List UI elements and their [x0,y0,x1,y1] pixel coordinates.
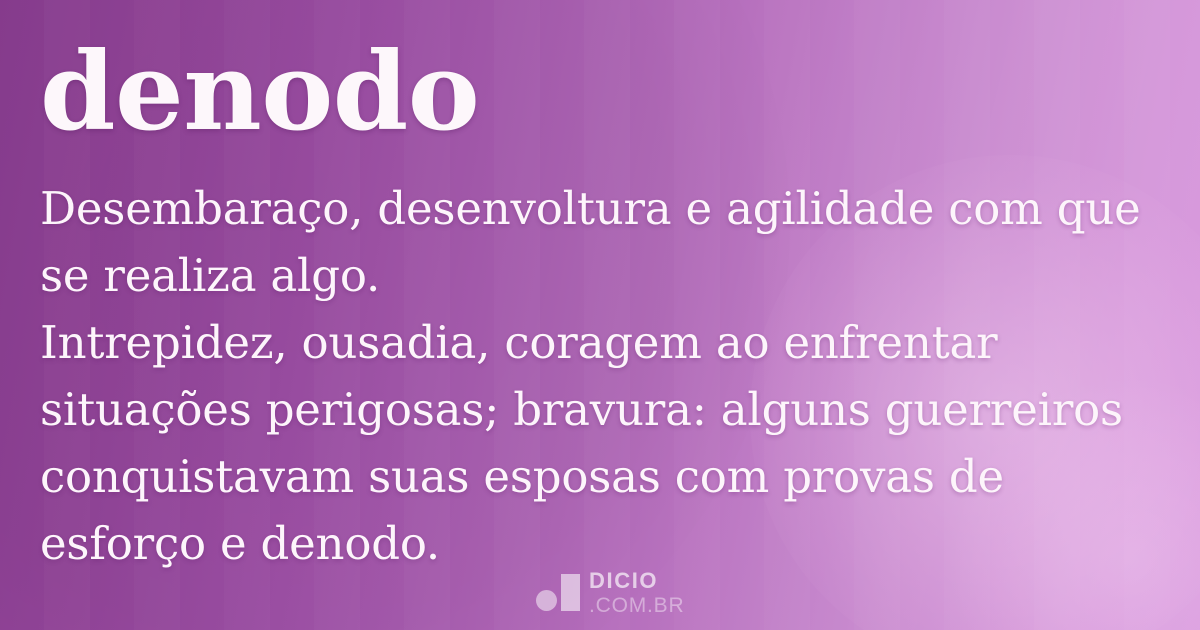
definition-line: conquistavam suas esposas com provas de [40,443,1164,510]
logo-wordmark: DICIO .COM.BR [589,570,684,616]
definition-line: Intrepidez, ousadia, coragem ao enfrenta… [40,309,1164,376]
dicio-logo: DICIO .COM.BR [536,570,684,616]
logo-circle-shape [536,590,557,611]
definition-line: Desembaraço, desenvoltura e agilidade co… [40,175,1164,242]
dictionary-entry-card: denodo Desembaraço, desenvoltura e agili… [0,0,1200,630]
definition-line: situações perigosas; bravura: alguns gue… [40,376,1164,443]
logo-brand-tld: .COM.BR [589,595,684,616]
logo-brand-name: DICIO [589,570,684,592]
logo-rectangle-shape [561,574,580,611]
card-content: denodo Desembaraço, desenvoltura e agili… [0,0,1200,630]
definition-line: se realiza algo. [40,242,1164,309]
definition-block: Desembaraço, desenvoltura e agilidade co… [40,175,1164,577]
logo-mark-icon [536,573,578,613]
definition-line: esforço e denodo. [40,510,1164,577]
entry-word: denodo [40,34,479,151]
